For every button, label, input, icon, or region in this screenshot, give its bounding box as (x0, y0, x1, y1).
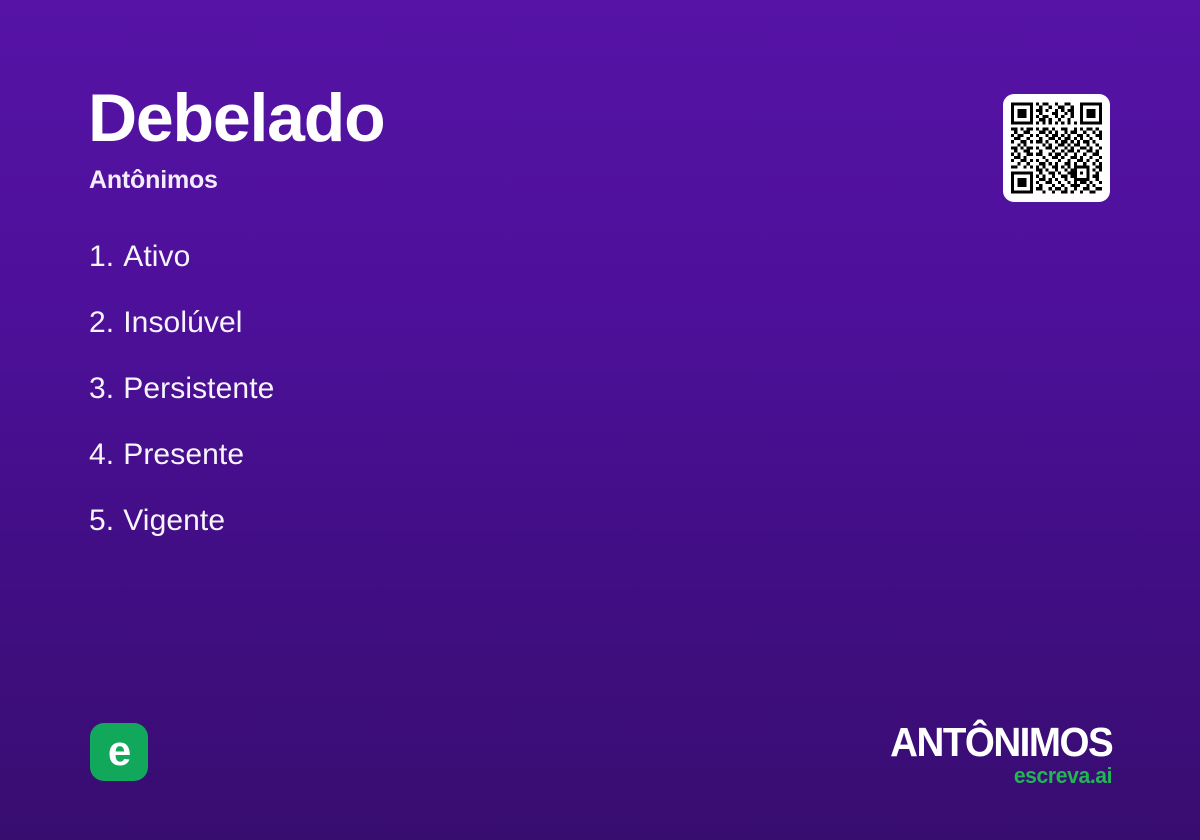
list-item-word: Insolúvel (123, 304, 242, 342)
escreva-e-logo-icon[interactable]: e (90, 723, 148, 781)
wordmark-title: ANTÔNIMOS (890, 722, 1112, 763)
list-item-word: Presente (123, 436, 244, 474)
list-item-index: 4. (89, 436, 114, 474)
brand-badge-letter: e (108, 730, 130, 772)
antonimos-wordmark: ANTÔNIMOS escreva.ai (876, 722, 1112, 788)
qr-code-icon[interactable] (1003, 94, 1110, 202)
page-subtitle: Antônimos (89, 168, 218, 193)
page-title: Debelado (88, 84, 384, 152)
list-item-index: 1. (89, 238, 114, 276)
list-item: 3. Persistente (89, 370, 274, 436)
list-item-index: 5. (89, 502, 114, 540)
list-item: 5. Vigente (89, 502, 274, 568)
antonym-list: 1. Ativo 2. Insolúvel 3. Persistente 4. … (89, 238, 274, 568)
list-item: 4. Presente (89, 436, 274, 502)
list-item: 2. Insolúvel (89, 304, 274, 370)
list-item-word: Vigente (123, 502, 225, 540)
list-item-word: Persistente (123, 370, 274, 408)
antonyms-card: Debelado Antônimos 1. Ativo 2. Insolúvel… (0, 0, 1200, 840)
wordmark-domain: escreva.ai (885, 764, 1112, 788)
list-item-index: 3. (89, 370, 114, 408)
list-item-index: 2. (89, 304, 114, 342)
list-item-word: Ativo (123, 238, 190, 276)
list-item: 1. Ativo (89, 238, 274, 304)
